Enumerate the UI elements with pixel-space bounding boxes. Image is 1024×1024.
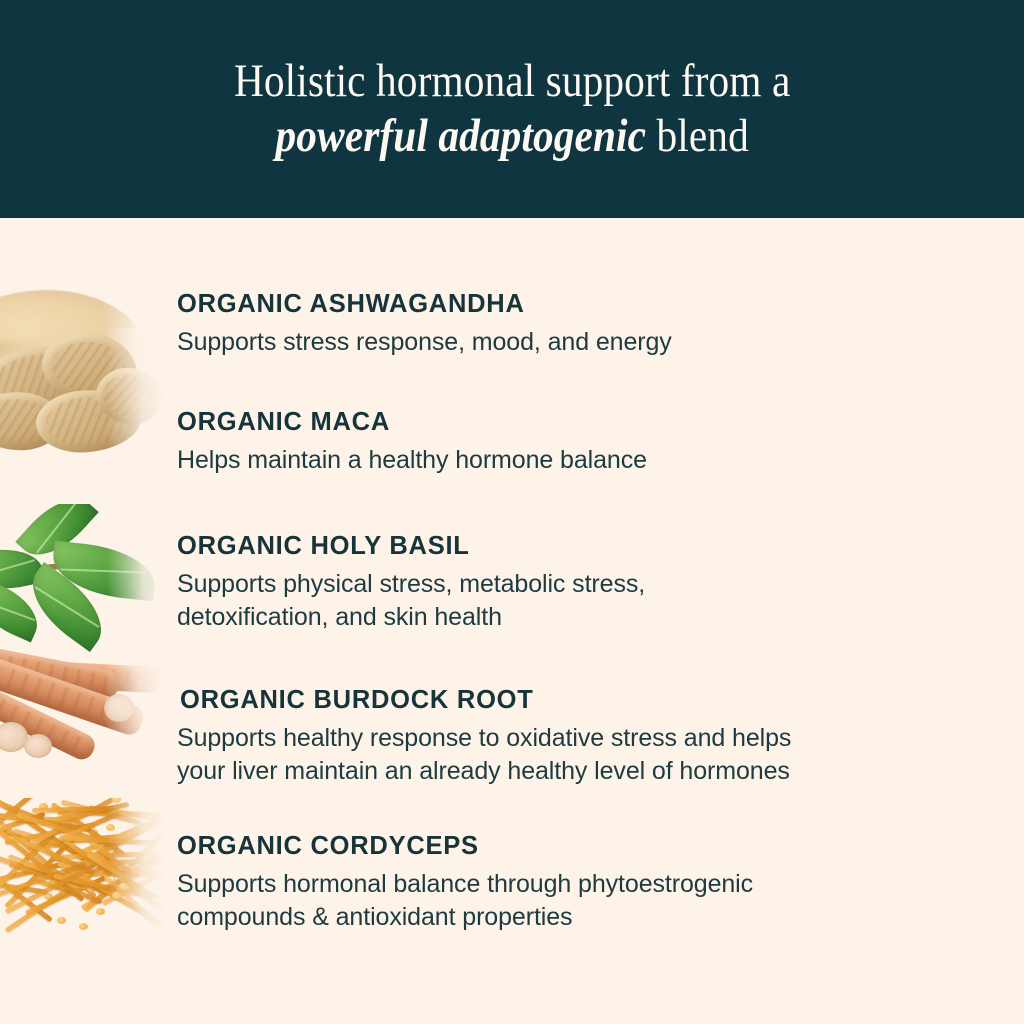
basil-leaf-shape <box>0 577 47 642</box>
cordyceps-tip-shape <box>132 826 141 833</box>
ingredient-text-block: ORGANIC MACA Helps maintain a healthy ho… <box>177 408 977 477</box>
cordyceps-strand-shape <box>33 816 73 822</box>
ingredient-title: ORGANIC HOLY BASIL <box>177 532 977 560</box>
cordyceps-strand-shape <box>88 805 165 824</box>
maca-root-photo <box>0 328 165 460</box>
cordyceps-strand-shape <box>0 798 40 837</box>
cordyceps-strand-shape <box>52 881 165 902</box>
ingredient-description: Supports physical stress, metabolic stre… <box>177 568 977 635</box>
header-banner: Holistic hormonal support from a powerfu… <box>0 0 1024 218</box>
cordyceps-strand-shape <box>25 842 70 849</box>
cordyceps-strand-shape <box>63 836 158 846</box>
cordyceps-strand-shape <box>0 880 49 895</box>
cordyceps-tip-shape <box>87 885 96 892</box>
ingredient-title: ORGANIC CORDYCEPS <box>177 832 977 860</box>
cordyceps-strand-shape <box>73 840 116 871</box>
description-line: Supports hormonal balance through phytoe… <box>177 868 977 901</box>
burdock-stick-shape <box>0 656 146 738</box>
cordyceps-strand-shape <box>97 850 165 896</box>
cordyceps-strand-shape <box>58 861 165 927</box>
cordyceps-strand-shape <box>100 804 165 847</box>
ingredient-text-block: ORGANIC CORDYCEPS Supports hormonal bala… <box>177 832 977 935</box>
basil-leaf-shape <box>17 562 117 652</box>
cordyceps-strand-shape <box>48 878 103 904</box>
cordyceps-strand-shape <box>91 851 128 878</box>
cordyceps-strand-shape <box>0 819 76 890</box>
cordyceps-strand-shape <box>83 879 122 913</box>
basil-stem-shape <box>0 562 76 577</box>
cordyceps-strand-shape <box>0 812 45 832</box>
cordyceps-strand-shape <box>93 816 165 904</box>
page-title: Holistic hormonal support from a powerfu… <box>234 54 791 165</box>
title-emphasis: powerful adaptogenic <box>275 110 646 162</box>
cordyceps-mushroom-photo <box>0 798 165 938</box>
cordyceps-strand-shape <box>54 849 121 884</box>
cordyceps-tip-shape <box>97 856 106 863</box>
cordyceps-strand-shape <box>52 851 158 860</box>
cordyceps-strand-shape <box>103 874 160 927</box>
cordyceps-strand-shape <box>0 810 91 832</box>
cordyceps-strand-shape <box>4 822 95 845</box>
cordyceps-strand-shape <box>24 876 105 916</box>
cordyceps-strand-shape <box>16 813 118 849</box>
cordyceps-strand-shape <box>60 800 141 826</box>
burdock-stick-shape <box>33 661 162 694</box>
cordyceps-tip-shape <box>113 876 122 883</box>
maca-chunk-shape <box>90 361 165 431</box>
cordyceps-tip-shape <box>106 824 115 831</box>
cordyceps-strand-shape <box>4 862 96 913</box>
product-ingredient-infographic: Holistic hormonal support from a powerfu… <box>0 0 1024 1024</box>
ingredient-description: Supports hormonal balance through phytoe… <box>177 868 977 935</box>
cordyceps-tip-shape <box>96 908 105 915</box>
maca-chunk-shape <box>0 388 64 454</box>
cordyceps-strand-shape <box>8 854 84 887</box>
cordyceps-strand-shape <box>18 837 95 875</box>
cordyceps-strand-shape <box>66 870 165 877</box>
cordyceps-strand-shape <box>0 798 90 864</box>
cordyceps-strand-shape <box>34 878 74 895</box>
burdock-stick-shape <box>0 679 99 764</box>
ingredient-text-block: ORGANIC BURDOCK ROOT Supports healthy re… <box>177 686 977 789</box>
cordyceps-strand-shape <box>8 862 76 887</box>
image-edge-fade <box>107 798 165 938</box>
image-edge-fade <box>107 504 165 654</box>
ingredient-list: ORGANIC ASHWAGANDHA Supports stress resp… <box>0 218 1024 1024</box>
cordyceps-strand-shape <box>22 861 110 896</box>
cordyceps-strand-shape <box>82 803 165 854</box>
cordyceps-tip-shape <box>112 798 121 803</box>
title-line-2: powerful adaptogenic blend <box>234 109 791 164</box>
cordyceps-strand-shape <box>53 874 117 892</box>
title-line-2-rest: blend <box>646 110 749 162</box>
cordyceps-strand-shape <box>81 849 165 913</box>
cordyceps-strand-shape <box>13 828 118 865</box>
cordyceps-strand-shape <box>4 834 77 908</box>
cordyceps-strand-shape <box>65 823 153 874</box>
cordyceps-tip-shape <box>57 917 66 924</box>
ingredient-description: Supports stress response, mood, and ener… <box>177 326 977 359</box>
cordyceps-strand-shape <box>0 861 86 903</box>
ingredient-title: ORGANIC ASHWAGANDHA <box>177 290 977 318</box>
cordyceps-tip-shape <box>39 803 48 810</box>
description-line: detoxification, and skin health <box>177 601 977 634</box>
ingredient-title: ORGANIC MACA <box>177 408 977 436</box>
cordyceps-strand-shape <box>57 858 165 867</box>
cordyceps-tip-shape <box>144 914 153 921</box>
cordyceps-strand-shape <box>57 810 165 817</box>
cordyceps-strand-shape <box>39 802 130 826</box>
ingredient-text-block: ORGANIC HOLY BASIL Supports physical str… <box>177 532 977 635</box>
cordyceps-strand-shape <box>0 863 53 923</box>
cordyceps-tip-shape <box>112 892 121 899</box>
cordyceps-strand-shape <box>0 820 30 842</box>
cordyceps-strand-shape <box>51 802 126 857</box>
cordyceps-tip-shape <box>71 890 80 897</box>
title-line-1: Holistic hormonal support from a <box>234 54 791 109</box>
cordyceps-strand-shape <box>95 859 165 890</box>
cordyceps-strand-shape <box>0 821 85 902</box>
image-edge-fade <box>102 276 160 381</box>
cordyceps-strand-shape <box>48 853 98 887</box>
burdock-cut-end-shape <box>104 694 134 722</box>
cordyceps-strand-shape <box>4 864 105 933</box>
maca-chunk-shape <box>38 328 141 405</box>
cordyceps-strand-shape <box>33 834 97 898</box>
description-line: Helps maintain a healthy hormone balance <box>177 444 977 477</box>
cordyceps-tip-shape <box>119 883 128 890</box>
holy-basil-leaves-photo <box>0 504 165 654</box>
description-line: Supports stress response, mood, and ener… <box>177 326 977 359</box>
cordyceps-strand-shape <box>88 839 134 876</box>
burdock-cut-end-shape <box>0 722 28 752</box>
cordyceps-strand-shape <box>58 811 120 842</box>
image-edge-fade <box>104 648 162 776</box>
burdock-root-photo <box>0 648 162 776</box>
cordyceps-tip-shape <box>89 829 98 836</box>
cordyceps-strand-shape <box>101 863 165 906</box>
ingredient-title: ORGANIC BURDOCK ROOT <box>177 686 977 714</box>
maca-chunk-shape <box>0 339 102 417</box>
burdock-cut-end-shape <box>24 734 52 758</box>
ingredient-text-block: ORGANIC ASHWAGANDHA Supports stress resp… <box>177 290 977 359</box>
cordyceps-strand-shape <box>61 836 114 877</box>
burdock-stick-shape <box>0 648 121 700</box>
description-line: Supports healthy response to oxidative s… <box>177 722 977 755</box>
cordyceps-strand-shape <box>32 806 114 813</box>
image-edge-fade <box>107 328 165 460</box>
cordyceps-strand-shape <box>39 832 136 847</box>
cordyceps-strand-shape <box>86 852 156 899</box>
basil-leaf-shape <box>15 504 98 570</box>
cordyceps-strand-shape <box>0 861 62 882</box>
cordyceps-strand-shape <box>25 798 133 849</box>
cordyceps-strand-shape <box>0 822 65 894</box>
description-line: compounds & antioxidant properties <box>177 901 977 934</box>
description-line: Supports physical stress, metabolic stre… <box>177 568 977 601</box>
powder-mound-shape <box>0 290 148 381</box>
cordyceps-tip-shape <box>111 861 120 868</box>
cordyceps-tip-shape <box>149 936 158 938</box>
basil-leaf-shape <box>50 541 159 602</box>
cordyceps-strand-shape <box>0 798 47 824</box>
maca-chunk-shape <box>33 385 143 458</box>
ingredient-description: Helps maintain a healthy hormone balance <box>177 444 977 477</box>
cordyceps-strand-shape <box>0 853 55 881</box>
description-line: your liver maintain an already healthy l… <box>177 755 977 788</box>
cordyceps-tip-shape <box>79 923 88 930</box>
cordyceps-tip-shape <box>44 893 53 900</box>
ingredient-description: Supports healthy response to oxidative s… <box>177 722 977 789</box>
basil-leaf-shape <box>0 541 46 598</box>
ashwagandha-powder-photo <box>0 276 160 381</box>
cordyceps-strand-shape <box>81 851 165 911</box>
